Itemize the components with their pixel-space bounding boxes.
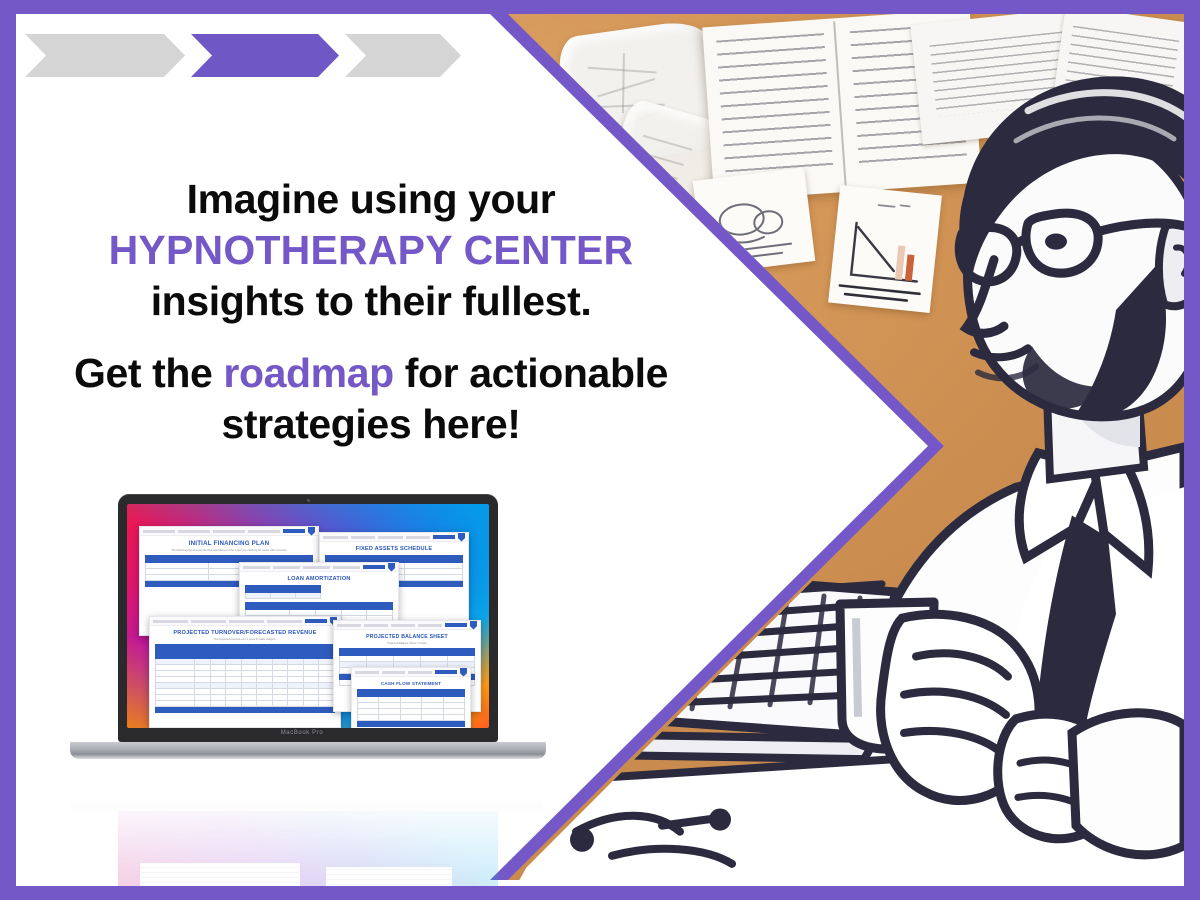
- reflection-doc-lines: [141, 859, 299, 886]
- step-chevron-3[interactable]: [345, 34, 461, 77]
- reflection-doc-lines: [327, 863, 451, 886]
- headline-cta: Get the roadmap for actionable strategie…: [26, 348, 716, 450]
- reflection-hinge-notch: [264, 804, 340, 811]
- toolbar-primary-button[interactable]: [435, 670, 457, 674]
- doc-toolbar: [334, 621, 480, 630]
- cta-accent-word: roadmap: [223, 350, 393, 396]
- shield-logo-icon: [308, 527, 315, 536]
- laptop-reflection: [62, 794, 542, 886]
- toolbar-primary-button[interactable]: [433, 535, 455, 539]
- reflection-doc: [326, 867, 452, 886]
- cta-pre: Get the: [74, 350, 223, 396]
- doc-projected-turnover[interactable]: PROJECTED TURNOVER/FORECASTED REVENUE Th…: [149, 616, 341, 728]
- laptop-model-label: MacBook Pro: [62, 730, 542, 736]
- doc-title: FIXED ASSETS SCHEDULE: [320, 542, 468, 554]
- toolbar-primary-button[interactable]: [283, 529, 305, 533]
- slide-canvas: Imagine using your HYPNOTHERAPY CENTER i…: [16, 14, 1184, 886]
- reflection-doc: [140, 863, 300, 886]
- doc-table: [357, 689, 465, 727]
- doc-toolbar: [140, 527, 318, 536]
- toolbar-primary-button[interactable]: [445, 623, 467, 627]
- doc-toolbar: [320, 533, 468, 542]
- left-content-panel: Imagine using your HYPNOTHERAPY CENTER i…: [16, 14, 516, 880]
- progress-step-bar: [41, 34, 461, 77]
- doc-toolbar: [352, 668, 470, 677]
- doc-subtitle: The financing plan ensures the financial…: [140, 549, 318, 554]
- shield-logo-icon: [460, 668, 467, 677]
- shield-logo-icon: [458, 533, 465, 542]
- shield-logo-icon: [470, 621, 477, 630]
- step-chevron-2-active[interactable]: [191, 34, 339, 77]
- doc-table: [155, 644, 335, 713]
- doc-title: PROJECTED BALANCE SHEET: [334, 630, 480, 642]
- cta-line-2: strategies here!: [222, 401, 521, 447]
- laptop-mockup: INITIAL FINANCING PLAN The financing pla…: [62, 494, 542, 886]
- reflection-base: [70, 794, 546, 811]
- step-chevron-1[interactable]: [25, 34, 185, 77]
- toolbar-primary-button[interactable]: [363, 565, 385, 569]
- shield-logo-icon: [388, 563, 395, 572]
- laptop-lid: INITIAL FINANCING PLAN The financing pla…: [118, 494, 498, 742]
- doc-toolbar: [240, 563, 398, 572]
- doc-title: CASH FLOW STATEMENT: [352, 677, 470, 688]
- laptop-screen: INITIAL FINANCING PLAN The financing pla…: [127, 504, 489, 728]
- laptop-base: [70, 742, 546, 759]
- webcam-icon: [307, 499, 310, 502]
- doc-title: PROJECTED TURNOVER/FORECASTED REVENUE: [150, 626, 340, 638]
- headline-business-name: HYPNOTHERAPY CENTER: [26, 225, 716, 276]
- doc-cash-flow-statement[interactable]: CASH FLOW STATEMENT: [351, 667, 471, 728]
- doc-toolbar: [150, 617, 340, 626]
- doc-subtitle: Projected Balance Sheet / 3 Years: [334, 642, 480, 647]
- headline-line-3: insights to their fullest.: [26, 276, 716, 327]
- headline-block: Imagine using your HYPNOTHERAPY CENTER i…: [26, 174, 716, 450]
- doc-title: LOAN AMORTIZATION: [240, 572, 398, 584]
- doc-params-table: [245, 585, 321, 599]
- reflection-screen: [118, 811, 498, 886]
- slide-root: Imagine using your HYPNOTHERAPY CENTER i…: [0, 0, 1200, 900]
- doc-subtitle: The projected revenue over 3 years by sa…: [150, 638, 340, 643]
- toolbar-primary-button[interactable]: [305, 619, 327, 623]
- doc-title: INITIAL FINANCING PLAN: [140, 536, 318, 549]
- headline-line-1: Imagine using your: [26, 174, 716, 225]
- cta-post: for actionable: [394, 350, 668, 396]
